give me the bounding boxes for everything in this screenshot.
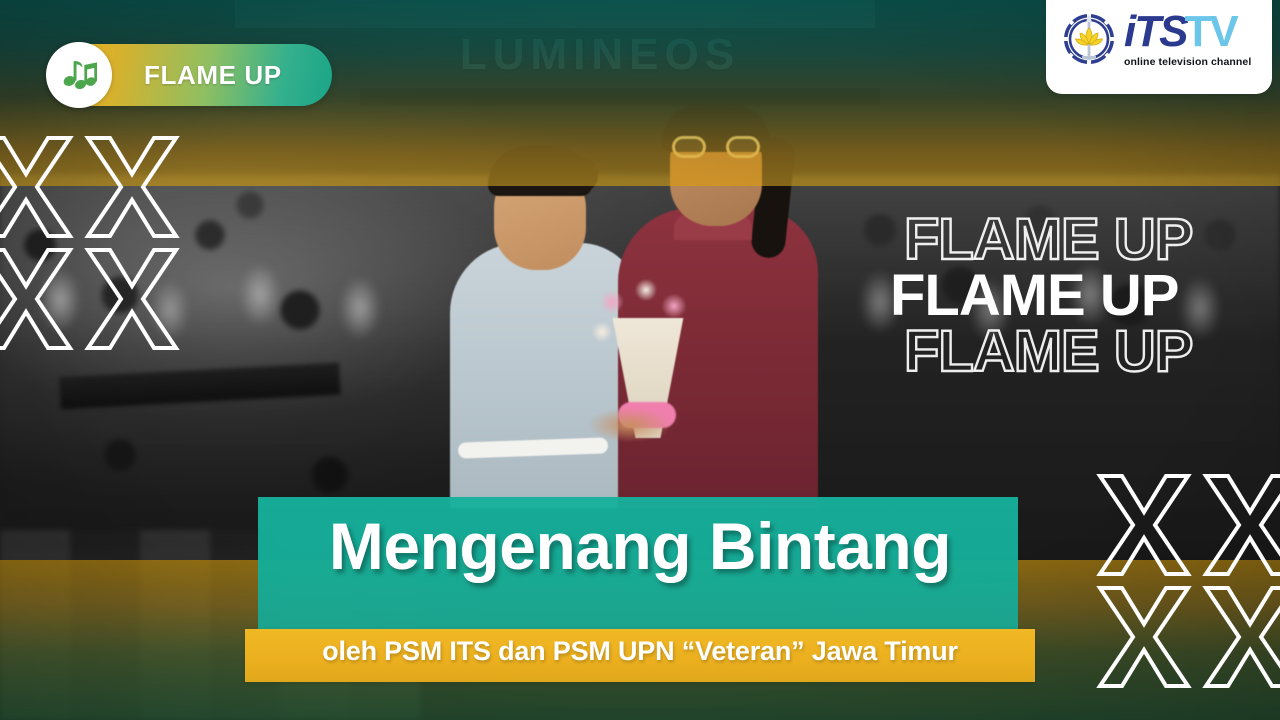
its-tv-logo[interactable]: iTS TV online television channel xyxy=(1046,0,1272,94)
flame-up-badge-label: FLAME UP xyxy=(144,60,282,91)
its-gear-lotus-icon xyxy=(1060,10,1118,68)
video-thumbnail: LUMINEOS xyxy=(0,0,1280,720)
video-title: Mengenang Bintang xyxy=(0,508,1280,584)
video-subtitle: oleh PSM ITS dan PSM UPN “Veteran” Jawa … xyxy=(245,636,1035,667)
logo-tagline: online television channel xyxy=(1124,57,1251,68)
its-tv-wordmark: iTS TV online television channel xyxy=(1124,10,1251,68)
tv-wordmark: TV xyxy=(1184,10,1236,54)
its-wordmark: iTS xyxy=(1124,10,1186,54)
flame-up-badge[interactable]: FLAME UP xyxy=(48,44,332,106)
music-note-icon xyxy=(60,54,98,97)
handshake xyxy=(570,400,690,450)
badge-icon-circle xyxy=(46,42,112,108)
